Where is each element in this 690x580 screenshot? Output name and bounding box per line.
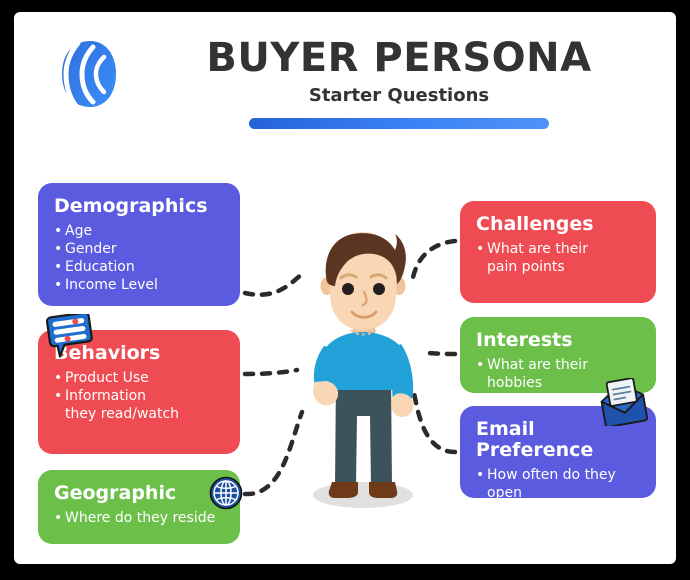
card-list: Where do they reside — [54, 510, 224, 528]
list-item: How often do they open — [476, 467, 640, 503]
infographic-canvas: BUYER PERSONA Starter Questions — [14, 12, 676, 564]
card-challenges[interactable]: Challenges What are their pain points — [460, 201, 656, 303]
card-title: Challenges — [476, 214, 640, 235]
card-list: Product Use Information they read/watch — [54, 370, 224, 424]
page-subtitle: Starter Questions — [164, 87, 634, 105]
card-list: Age Gender Education Income Level — [54, 223, 224, 295]
header: BUYER PERSONA Starter Questions — [14, 12, 676, 142]
list-item: Income Level — [54, 277, 224, 295]
card-demographics[interactable]: Demographics Age Gender Education Income… — [38, 183, 240, 306]
card-title: Interests — [476, 330, 640, 351]
open-envelope-icon — [596, 378, 650, 426]
male-persona-character-illustration — [291, 224, 436, 519]
chat-bubble-icon — [43, 314, 95, 358]
page-title: BUYER PERSONA — [164, 38, 634, 78]
list-item: What are their pain points — [476, 241, 640, 277]
title-block: BUYER PERSONA Starter Questions — [164, 38, 634, 129]
list-item: Gender — [54, 241, 224, 259]
list-item: How often do they click — [476, 503, 640, 539]
card-title: Demographics — [54, 196, 224, 217]
list-item: Education — [54, 259, 224, 277]
list-item: Where do they reside — [54, 510, 224, 528]
card-title: Geographic — [54, 483, 176, 504]
globe-icon — [209, 476, 243, 510]
accent-bar — [249, 118, 549, 129]
concentric-arcs-logo-icon — [48, 35, 126, 113]
list-item: Product Use — [54, 370, 224, 388]
card-list: What are their pain points — [476, 241, 640, 277]
card-list: How often do they open How often do they… — [476, 467, 640, 539]
list-item: Age — [54, 223, 224, 241]
list-item: Information they read/watch — [54, 388, 224, 424]
